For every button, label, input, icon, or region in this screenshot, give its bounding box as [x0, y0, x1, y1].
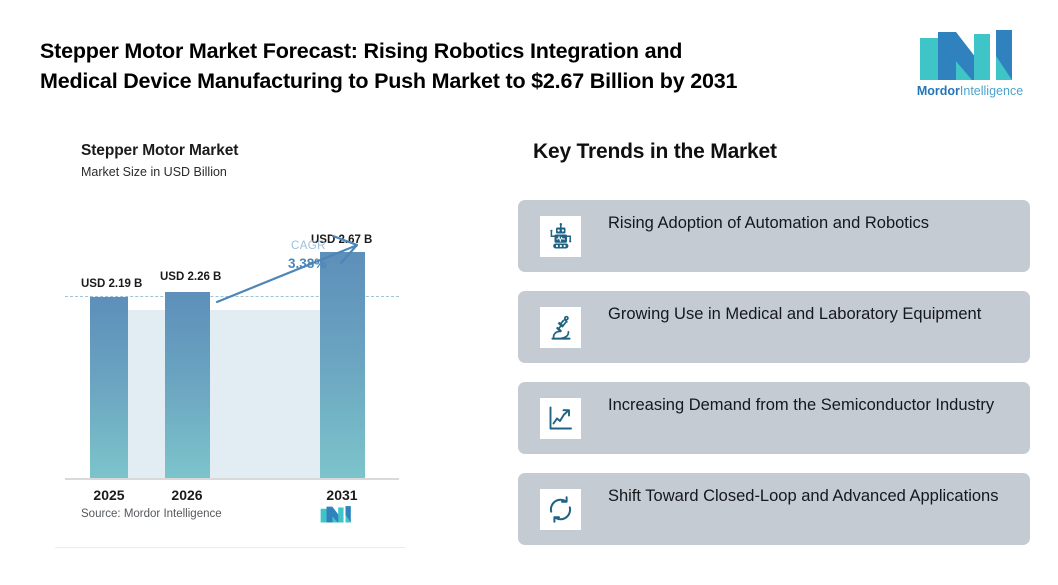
key-trends-heading: Key Trends in the Market	[533, 140, 777, 164]
bar-value-label-2026: USD 2.26 B	[160, 271, 221, 283]
gap-fill-2	[210, 310, 320, 478]
bar-2026	[165, 292, 210, 478]
trend-card-semiconductor-demand[interactable]: Increasing Demand from the Semiconductor…	[518, 382, 1030, 454]
x-axis-label-2031: 2031	[312, 487, 372, 503]
mordor-logo-mark-icon	[918, 28, 1022, 80]
x-axis-label-2026: 2026	[157, 487, 217, 503]
mordor-logo-mark-small-icon	[320, 504, 354, 524]
mordor-intelligence-logo: MordorIntelligence	[910, 28, 1030, 104]
trend-card-closed-loop-applications[interactable]: Shift Toward Closed-Loop and Advanced Ap…	[518, 473, 1030, 545]
cagr-label: CAGR	[291, 240, 326, 252]
bar-2025	[90, 297, 128, 478]
chart-source-label: Source: Mordor Intelligence	[81, 508, 222, 520]
gap-fill-1	[127, 310, 165, 478]
trend-card-medical-laboratory[interactable]: Growing Use in Medical and Laboratory Eq…	[518, 291, 1030, 363]
microscope-icon	[540, 307, 581, 348]
robot-icon	[540, 216, 581, 257]
trend-label-automation-robotics: Rising Adoption of Automation and Roboti…	[608, 211, 1016, 236]
page-header: Stepper Motor Market Forecast: Rising Ro…	[0, 0, 1058, 118]
mordor-logo-wordmark: MordorIntelligence	[910, 84, 1030, 98]
x-axis-label-2025: 2025	[79, 487, 139, 503]
chart-card: Stepper Motor Market Market Size in USD …	[55, 130, 405, 548]
page-title-line-2: Medical Device Manufacturing to Push Mar…	[40, 66, 890, 96]
x-axis-line	[65, 478, 399, 480]
key-trends-panel: Key Trends in the Market Risin	[518, 130, 1030, 550]
bar-value-label-2025: USD 2.19 B	[81, 278, 142, 290]
refresh-cycle-icon	[540, 489, 581, 530]
trend-label-medical-laboratory: Growing Use in Medical and Laboratory Eq…	[608, 302, 1016, 327]
brand-word-intelligence: Intelligence	[960, 84, 1023, 98]
trend-label-closed-loop-applications: Shift Toward Closed-Loop and Advanced Ap…	[608, 484, 1016, 509]
trend-label-semiconductor-demand: Increasing Demand from the Semiconductor…	[608, 393, 1016, 418]
bar-chart-plot: USD 2.19 B USD 2.26 B USD 2.67 B CAGR 3.…	[55, 130, 405, 548]
line-chart-up-icon	[540, 398, 581, 439]
page-title: Stepper Motor Market Forecast: Rising Ro…	[40, 36, 890, 96]
trend-card-automation-robotics[interactable]: Rising Adoption of Automation and Roboti…	[518, 200, 1030, 272]
brand-word-mordor: Mordor	[917, 84, 960, 98]
page-title-line-1: Stepper Motor Market Forecast: Rising Ro…	[40, 36, 890, 66]
cagr-value: 3.38%	[288, 256, 326, 271]
